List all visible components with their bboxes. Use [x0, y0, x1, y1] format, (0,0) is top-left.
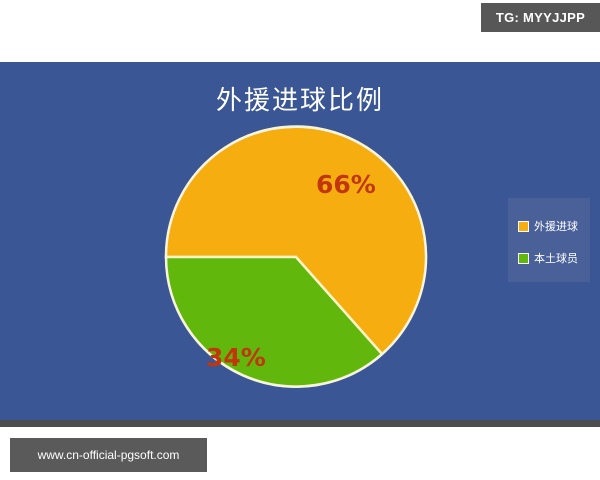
pie-svg: [164, 125, 428, 389]
pie-label-foreign: 66%: [316, 170, 376, 199]
legend-label-local: 本土球员: [534, 250, 578, 266]
pie-chart: 66% 34%: [164, 125, 428, 389]
legend-swatch-local-icon: [518, 253, 529, 264]
legend-label-foreign: 外援进球: [534, 218, 578, 234]
chart-panel: 外援进球比例 66% 34% 外援进球 本土球员: [0, 62, 600, 427]
watermark-label: www.cn-official-pgsoft.com: [38, 448, 180, 462]
tg-badge-label: TG: MYYJJPP: [496, 10, 585, 25]
legend-item-foreign[interactable]: 外援进球: [518, 218, 578, 234]
chart-legend: 外援进球 本土球员: [508, 198, 590, 282]
pie-label-local: 34%: [206, 343, 266, 372]
legend-swatch-foreign-icon: [518, 221, 529, 232]
legend-item-local[interactable]: 本土球员: [518, 250, 578, 266]
chart-title: 外援进球比例: [0, 80, 600, 117]
tg-badge: TG: MYYJJPP: [481, 3, 600, 32]
watermark-badge: www.cn-official-pgsoft.com: [10, 438, 207, 472]
